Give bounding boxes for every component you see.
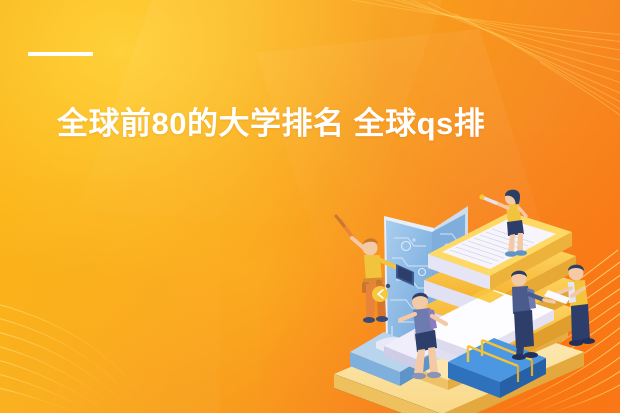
isometric-education-illustration xyxy=(322,176,620,413)
article-cover-banner: 全球前80的大学排名 全球qs排 xyxy=(0,0,620,413)
accent-rule xyxy=(28,52,93,56)
page-title: 全球前80的大学排名 全球qs排 xyxy=(57,104,620,144)
badge-icon xyxy=(372,286,388,302)
